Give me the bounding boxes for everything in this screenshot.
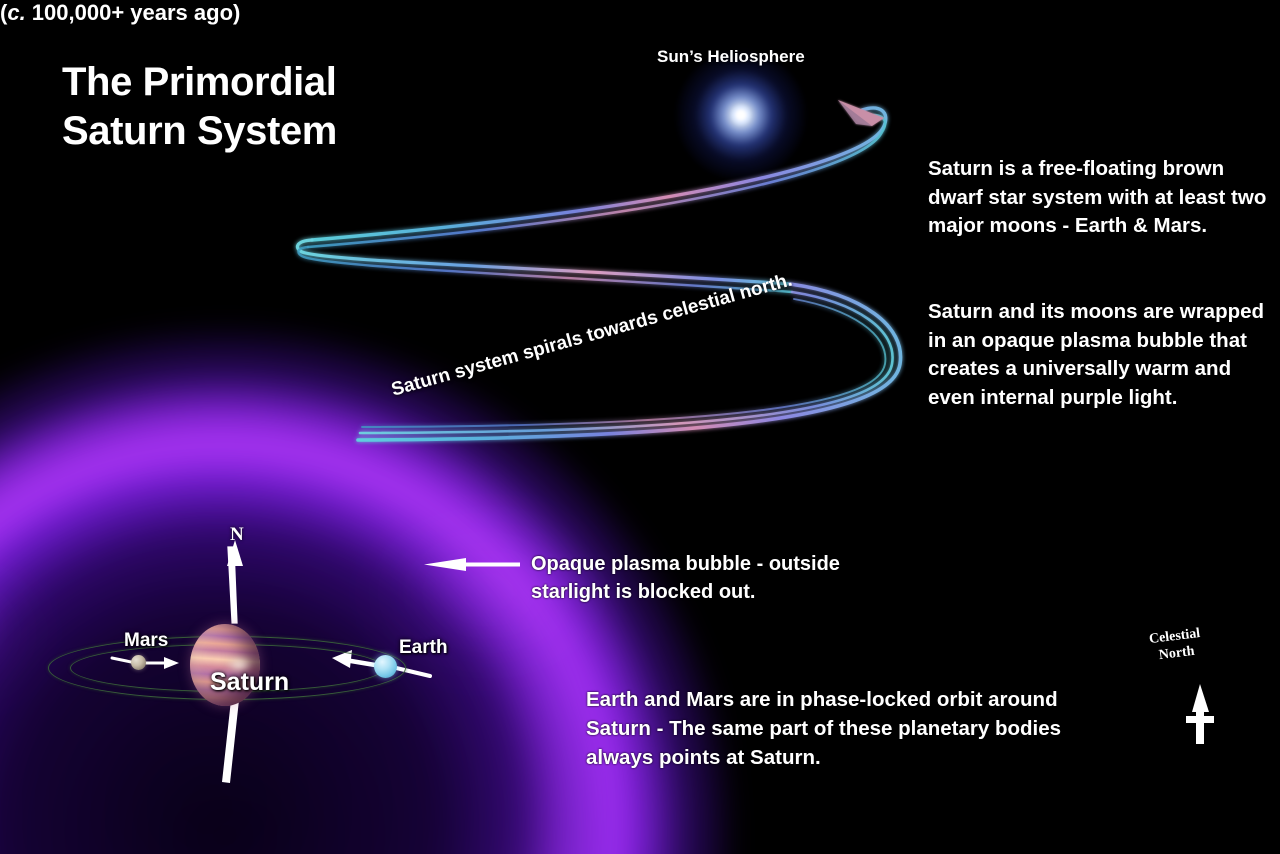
page-title: The Primordial Saturn System <box>62 58 337 156</box>
subtitle-rest: 100,000+ years ago) <box>26 0 241 25</box>
earth-moon <box>374 655 397 678</box>
star-core-icon <box>732 106 750 124</box>
north-axis-label: N <box>230 524 244 546</box>
celestial-north-arrow-icon <box>1186 684 1214 744</box>
bubble-callout-text: Opaque plasma bubble - outside starlight… <box>531 550 881 606</box>
plasma-bubble-paragraph: Saturn and its moons are wrapped in an o… <box>928 298 1274 412</box>
subtitle-circa: c. <box>7 0 25 25</box>
title-line-2: Saturn System <box>62 107 337 156</box>
title-line-1: The Primordial <box>62 58 337 107</box>
brown-dwarf-paragraph: Saturn is a free-floating brown dwarf st… <box>928 155 1268 241</box>
heliosphere-label: Sun’s Heliosphere <box>657 47 805 67</box>
saturn-label: Saturn <box>210 668 289 697</box>
spiral-arrowhead-icon <box>838 100 884 126</box>
page-subtitle: (c. 100,000+ years ago) <box>0 0 1280 26</box>
plasma-bubble-inner-glow <box>0 390 670 854</box>
callout-arrow-left-icon <box>424 558 520 571</box>
mars-label: Mars <box>124 630 168 652</box>
spiral-path-label: Saturn system spirals towards celestial … <box>389 270 795 402</box>
phase-locked-paragraph: Earth and Mars are in phase-locked orbit… <box>586 685 1086 772</box>
mars-moon <box>131 655 146 670</box>
earth-label: Earth <box>399 637 448 659</box>
celestial-north-label: Celestial North <box>1148 625 1203 665</box>
infographic-canvas: Sun’s Heliosphere <box>0 0 1280 854</box>
helix-spiral-path-icon <box>297 108 900 440</box>
